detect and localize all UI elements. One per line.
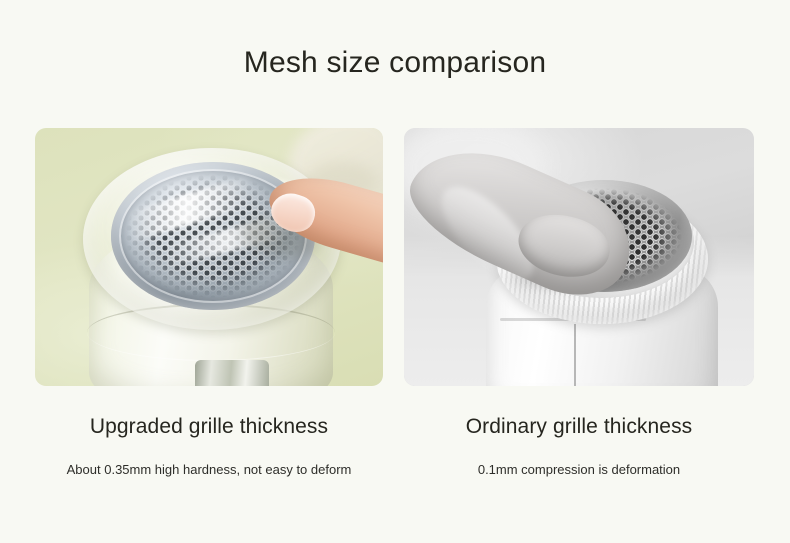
scene-upgraded — [35, 128, 383, 386]
comparison-row: Upgraded grille thickness About 0.35mm h… — [0, 128, 790, 508]
caption-upgraded: Upgraded grille thickness — [35, 414, 383, 440]
device-body-seam-vertical — [574, 324, 576, 386]
comparison-column-ordinary: Ordinary grille thickness 0.1mm compress… — [404, 128, 754, 478]
scene-ordinary — [404, 128, 754, 386]
comparison-column-upgraded: Upgraded grille thickness About 0.35mm h… — [35, 128, 383, 478]
page-title: Mesh size comparison — [0, 43, 790, 83]
comparison-page: Mesh size comparison — [0, 0, 790, 543]
subcaption-upgraded: About 0.35mm high hardness, not easy to … — [35, 461, 383, 478]
caption-ordinary: Ordinary grille thickness — [404, 414, 754, 440]
device-metal-stem — [195, 360, 269, 386]
photo-upgraded-grille — [35, 128, 383, 386]
subcaption-ordinary: 0.1mm compression is deformation — [404, 461, 754, 478]
photo-ordinary-grille — [404, 128, 754, 386]
